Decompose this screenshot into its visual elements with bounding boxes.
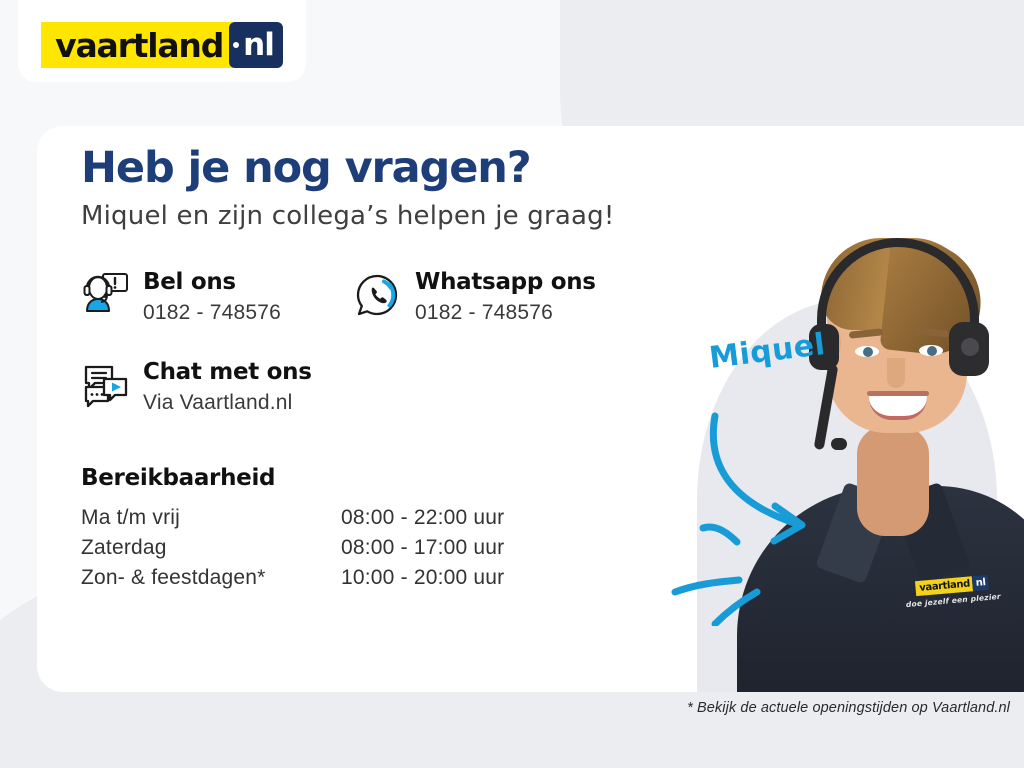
- contact-chat-value: Via Vaartland.nl: [143, 389, 312, 417]
- hours-day: Ma t/m vrij: [81, 503, 341, 533]
- headset-earcup-dial: [961, 338, 979, 356]
- chat-bubbles-icon: [81, 361, 129, 409]
- contact-card: vaartland nl doe jezelf een plezier Miqu…: [37, 126, 1024, 692]
- table-row: Zaterdag 08:00 - 17:00 uur: [81, 533, 551, 563]
- contact-whatsapp-value: 0182 - 748576: [415, 299, 596, 327]
- contact-whatsapp-title: Whatsapp ons: [415, 269, 596, 295]
- contact-call-value: 0182 - 748576: [143, 299, 281, 327]
- opening-hours: Bereikbaarheid Ma t/m vrij 08:00 - 22:00…: [81, 465, 601, 593]
- contact-methods: Bel ons 0182 - 748576 Whatsapp ons 0182: [81, 269, 681, 439]
- card-content: Heb je nog vragen? Miquel en zijn colleg…: [81, 146, 681, 593]
- page-title: Heb je nog vragen?: [81, 146, 681, 191]
- contact-whatsapp[interactable]: Whatsapp ons 0182 - 748576: [353, 269, 596, 327]
- opening-hours-table: Ma t/m vrij 08:00 - 22:00 uur Zaterdag 0…: [81, 503, 551, 593]
- logo-dot-icon: [233, 42, 239, 48]
- whatsapp-icon: [353, 271, 401, 319]
- nose: [887, 358, 905, 388]
- polo-logo-wordmark: vaartland: [919, 579, 970, 593]
- logo-navy-block: nl: [229, 22, 283, 68]
- hours-day: Zon- & feestdagen*: [81, 563, 341, 593]
- contact-chat-title: Chat met ons: [143, 359, 312, 385]
- hours-time: 08:00 - 22:00 uur: [341, 503, 551, 533]
- logo-tld: nl: [243, 30, 274, 61]
- footnote: * Bekijk de actuele openingstijden op Va…: [0, 700, 1010, 716]
- table-row: Ma t/m vrij 08:00 - 22:00 uur: [81, 503, 551, 533]
- annotation-arrow-icon: [657, 356, 877, 626]
- hours-time: 10:00 - 20:00 uur: [341, 563, 551, 593]
- headset-person-icon: [81, 271, 129, 319]
- logo-wordmark: vaartland: [55, 29, 223, 62]
- polo-logo-tld: nl: [975, 578, 986, 589]
- hours-day: Zaterdag: [81, 533, 341, 563]
- contact-call[interactable]: Bel ons 0182 - 748576: [81, 269, 281, 327]
- page-subtitle: Miquel en zijn collega’s helpen je graag…: [81, 201, 681, 231]
- brand-logo[interactable]: vaartland nl: [18, 0, 306, 82]
- contact-call-title: Bel ons: [143, 269, 281, 295]
- opening-hours-title: Bereikbaarheid: [81, 465, 601, 491]
- logo-yellow-block: vaartland: [41, 22, 233, 68]
- pupil-right: [927, 346, 937, 356]
- hours-time: 08:00 - 17:00 uur: [341, 533, 551, 563]
- poster-canvas: vaartland nl: [0, 0, 1024, 768]
- table-row: Zon- & feestdagen* 10:00 - 20:00 uur: [81, 563, 551, 593]
- vaartland-logo: vaartland nl: [41, 22, 283, 68]
- contact-chat[interactable]: Chat met ons Via Vaartland.nl: [81, 359, 312, 417]
